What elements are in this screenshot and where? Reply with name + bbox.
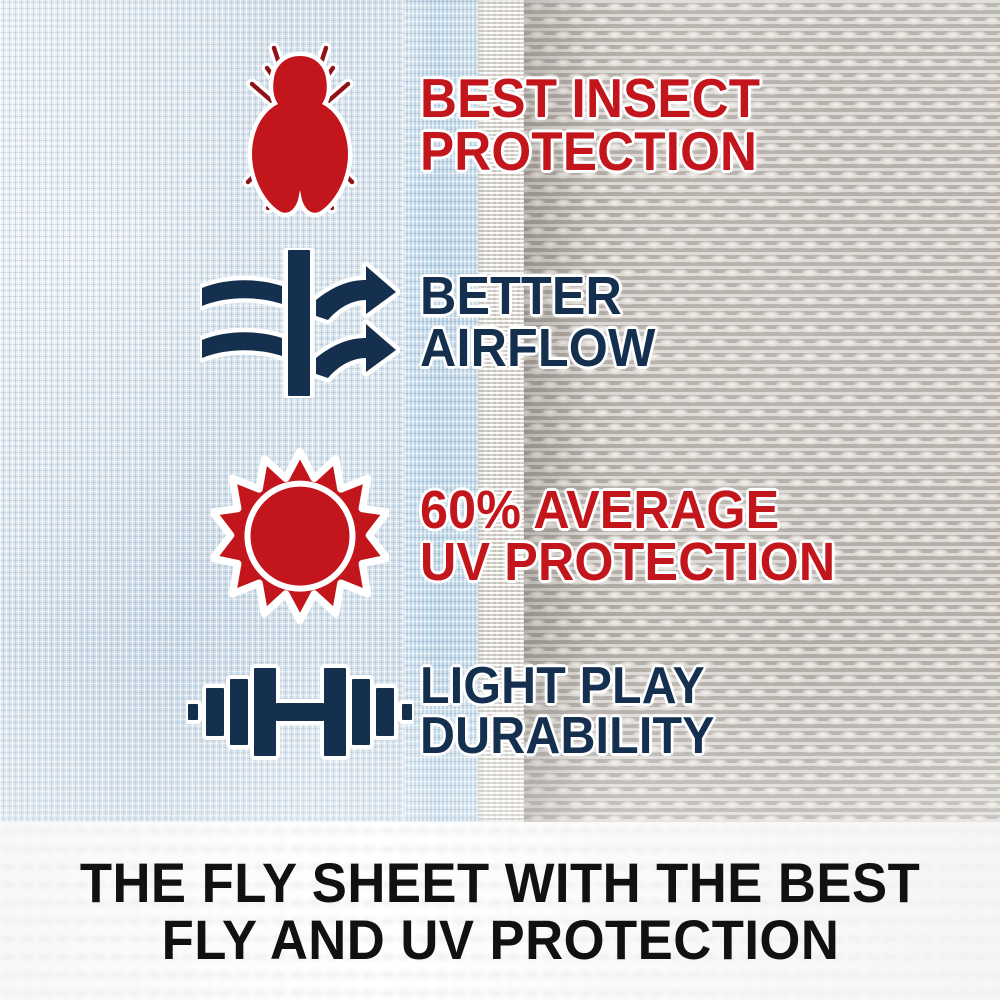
feature-icon-cell xyxy=(180,448,420,626)
feature-row-insect: BEST INSECT PROTECTION xyxy=(180,32,786,218)
caption-line-1: THE FLY SHEET WITH THE BEST xyxy=(80,854,920,911)
caption-banner: THE FLY SHEET WITH THE BEST FLY AND UV P… xyxy=(0,822,1000,1000)
feature-icon-cell xyxy=(180,32,420,218)
poster-root: BEST INSECT PROTECTION xyxy=(0,0,1000,1000)
feature-row-durability: LIGHT PLAY DURABILITY xyxy=(180,660,737,764)
sun-icon xyxy=(211,448,389,626)
feature-label-durability: LIGHT PLAY DURABILITY xyxy=(420,662,715,762)
feature-label-airflow: BETTER AIRFLOW xyxy=(420,271,656,375)
dumbbell-icon xyxy=(186,660,414,764)
feature-label-uv: 60% AVERAGE UV PROTECTION xyxy=(420,485,835,589)
feature-row-uv: 60% AVERAGE UV PROTECTION xyxy=(180,448,867,626)
feature-row-airflow: BETTER AIRFLOW xyxy=(180,248,673,398)
feature-list: BEST INSECT PROTECTION xyxy=(0,0,1000,822)
fly-icon xyxy=(212,32,388,218)
airflow-arrows-icon xyxy=(200,248,400,398)
caption-line-2: FLY AND UV PROTECTION xyxy=(161,911,839,968)
feature-icon-cell xyxy=(180,660,420,764)
feature-icon-cell xyxy=(180,248,420,398)
feature-label-insect: BEST INSECT PROTECTION xyxy=(420,72,760,178)
